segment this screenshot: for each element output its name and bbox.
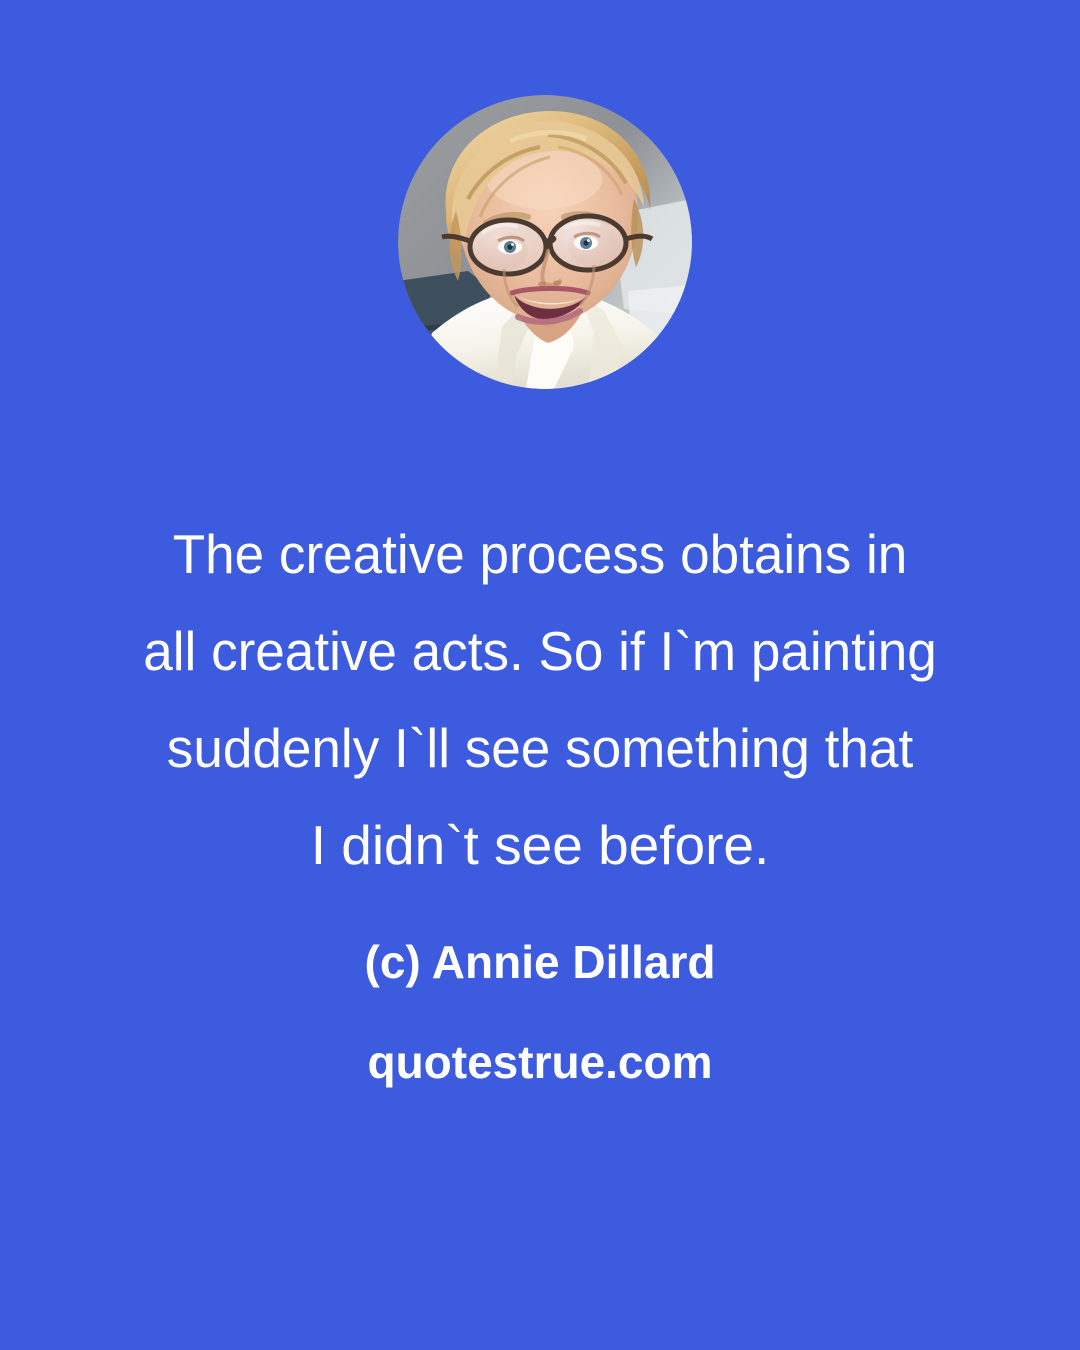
quote-text: The creative process obtains in all crea… <box>0 506 1080 894</box>
author-attribution: (c) Annie Dillard <box>0 912 1080 1012</box>
author-portrait <box>398 95 692 389</box>
author-portrait-image <box>398 95 692 389</box>
quote-line-4: I didn`t see before. <box>0 797 1080 894</box>
quote-line-3: suddenly I`ll see something that <box>19 700 1061 797</box>
attribution-block: (c) Annie Dillard quotestrue.com <box>0 912 1080 1112</box>
quote-line-2: all creative acts. So if I`m painting <box>19 603 1061 700</box>
site-attribution: quotestrue.com <box>0 1012 1080 1112</box>
quote-card: The creative process obtains in all crea… <box>0 0 1080 1350</box>
quote-line-1: The creative process obtains in <box>19 506 1061 603</box>
